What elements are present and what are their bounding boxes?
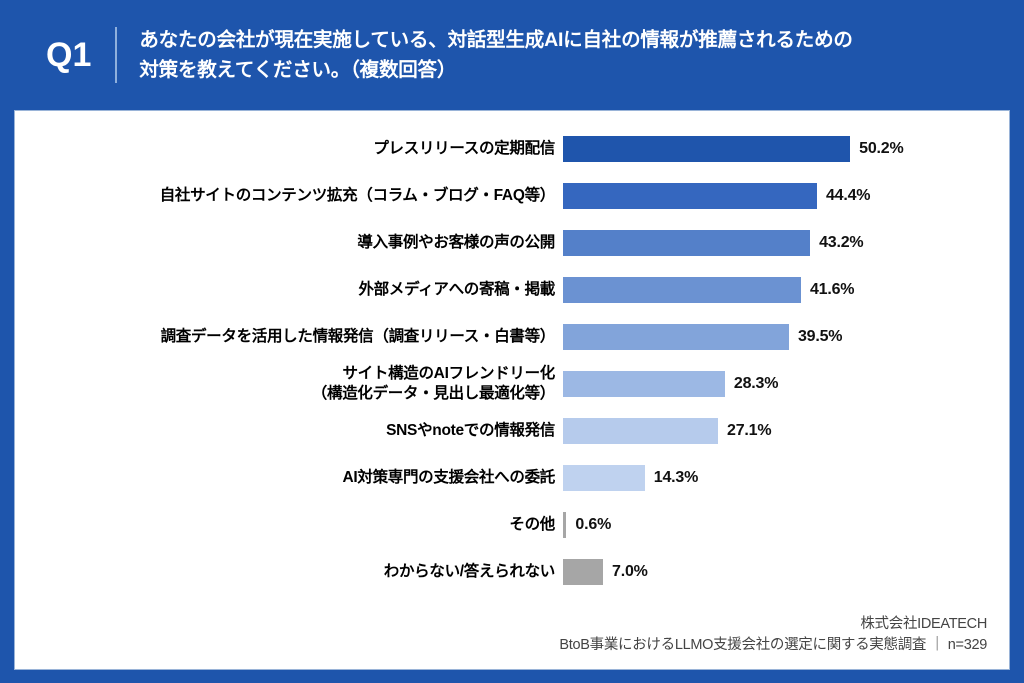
bar-value-label: 27.1% — [727, 422, 771, 440]
bar-zone: 50.2% — [563, 125, 1011, 172]
bar-zone: 28.3% — [563, 360, 1011, 407]
chart-footer: 株式会社IDEATECH BtoB事業におけるLLMO支援会社の選定に関する実態… — [559, 614, 987, 658]
chart-row: 自社サイトのコンテンツ拡充（コラム・ブログ・FAQ等）44.4% — [15, 172, 1011, 219]
bar-zone: 27.1% — [563, 407, 1011, 454]
bar-category-label: 調査データを活用した情報発信（調査リリース・白書等） — [15, 327, 563, 347]
bar-value-label: 50.2% — [859, 140, 903, 158]
question-text-line-1: あなたの会社が現在実施している、対話型生成AIに自社の情報が推薦されるための — [139, 25, 852, 55]
bar-value-label: 44.4% — [826, 187, 870, 205]
chart-card: プレスリリースの定期配信50.2%自社サイトのコンテンツ拡充（コラム・ブログ・F… — [14, 110, 1010, 670]
bar-zone: 43.2% — [563, 219, 1011, 266]
footer-survey: BtoB事業におけるLLMO支援会社の選定に関する実態調査 ｜ n=329 — [559, 635, 987, 657]
chart-row: その他0.6% — [15, 501, 1011, 548]
bar-value-label: 41.6% — [810, 281, 854, 299]
question-number: Q1 — [46, 38, 115, 72]
bar-category-label: SNSやnoteでの情報発信 — [15, 421, 563, 441]
bar-category-label: 導入事例やお客様の声の公開 — [15, 233, 563, 253]
bar-value-label: 7.0% — [612, 563, 648, 581]
bar-category-label: わからない/答えられない — [15, 562, 563, 582]
chart-row: 外部メディアへの寄稿・掲載41.6% — [15, 266, 1011, 313]
chart-row: 導入事例やお客様の声の公開43.2% — [15, 219, 1011, 266]
question-header: Q1 あなたの会社が現在実施している、対話型生成AIに自社の情報が推薦されるため… — [0, 0, 1024, 110]
bar-zone: 0.6% — [563, 501, 1011, 548]
chart-row: サイト構造のAIフレンドリー化 （構造化データ・見出し最適化等）28.3% — [15, 360, 1011, 407]
bar — [563, 371, 725, 397]
bar-category-label: プレスリリースの定期配信 — [15, 139, 563, 159]
chart-row: SNSやnoteでの情報発信27.1% — [15, 407, 1011, 454]
bar — [563, 183, 817, 209]
bar-zone: 14.3% — [563, 454, 1011, 501]
bar — [563, 465, 645, 491]
chart-row: わからない/答えられない7.0% — [15, 548, 1011, 595]
bar-zone: 41.6% — [563, 266, 1011, 313]
bar-category-label: 自社サイトのコンテンツ拡充（コラム・ブログ・FAQ等） — [15, 186, 563, 206]
bar-category-label: AI対策専門の支援会社への委託 — [15, 468, 563, 488]
chart-row: プレスリリースの定期配信50.2% — [15, 125, 1011, 172]
bar-value-label: 39.5% — [798, 328, 842, 346]
bar-value-label: 14.3% — [654, 469, 698, 487]
bar-chart: プレスリリースの定期配信50.2%自社サイトのコンテンツ拡充（コラム・ブログ・F… — [15, 125, 1011, 595]
bar-value-label: 28.3% — [734, 375, 778, 393]
bar-category-label: 外部メディアへの寄稿・掲載 — [15, 280, 563, 300]
bar — [563, 559, 603, 585]
bar — [563, 324, 789, 350]
bar-category-label: その他 — [15, 515, 563, 535]
bar-zone: 39.5% — [563, 313, 1011, 360]
bar — [563, 512, 566, 538]
bar-value-label: 0.6% — [575, 516, 611, 534]
bar-category-label: サイト構造のAIフレンドリー化 （構造化データ・見出し最適化等） — [15, 364, 563, 404]
bar — [563, 277, 801, 303]
bar — [563, 136, 850, 162]
header-divider — [115, 27, 117, 83]
bar-value-label: 43.2% — [819, 234, 863, 252]
question-text-line-2: 対策を教えてください。（複数回答） — [139, 55, 852, 85]
bar-zone: 7.0% — [563, 548, 1011, 595]
question-text: あなたの会社が現在実施している、対話型生成AIに自社の情報が推薦されるための 対… — [139, 25, 852, 85]
bar-zone: 44.4% — [563, 172, 1011, 219]
chart-row: 調査データを活用した情報発信（調査リリース・白書等）39.5% — [15, 313, 1011, 360]
bar — [563, 418, 718, 444]
footer-company: 株式会社IDEATECH — [559, 614, 987, 636]
bar — [563, 230, 810, 256]
chart-row: AI対策専門の支援会社への委託14.3% — [15, 454, 1011, 501]
